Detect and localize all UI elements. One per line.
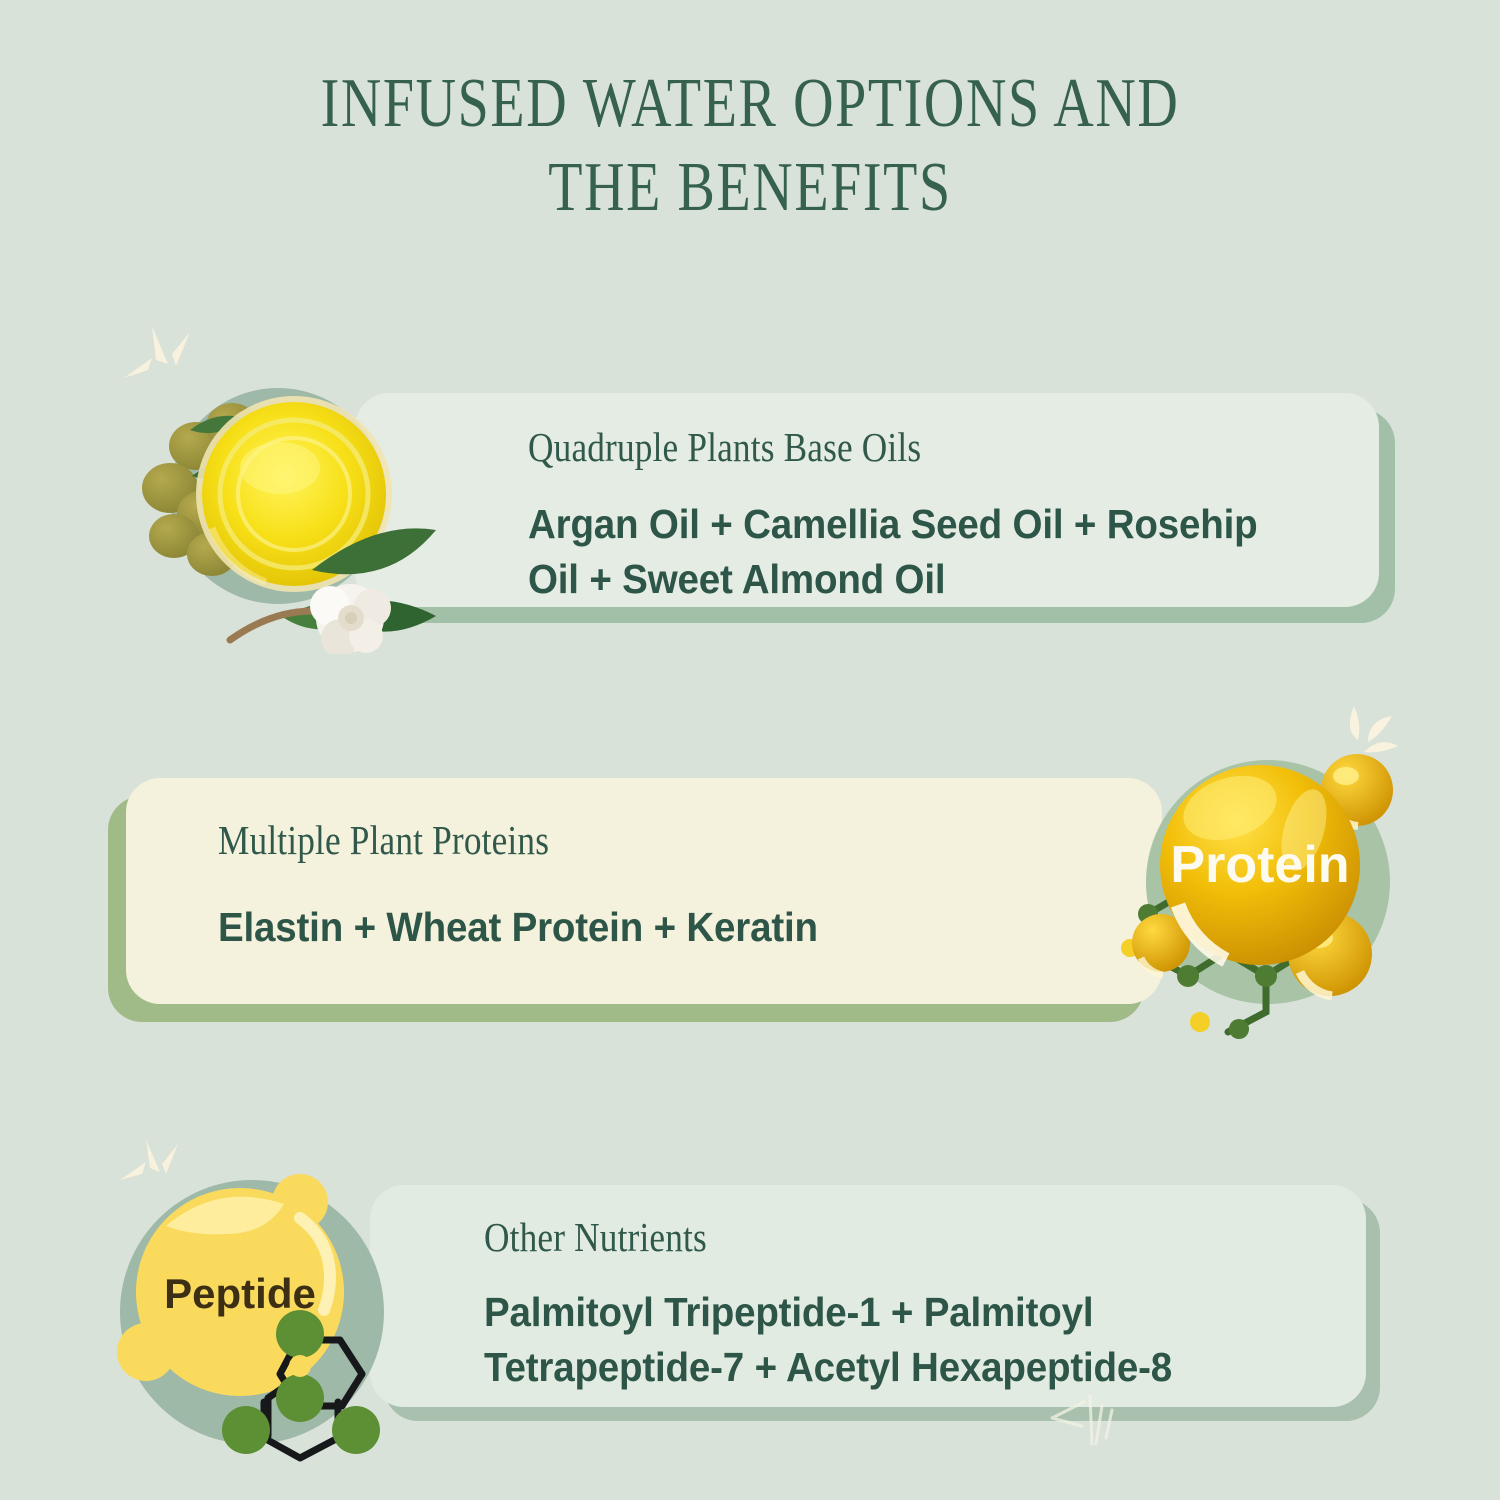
card-body: Elastin + Wheat Protein + Keratin [218, 900, 1026, 955]
sparkle-icon [1048, 1392, 1134, 1448]
card-base-oils: Quadruple Plants Base Oils Argan Oil + C… [355, 393, 1395, 623]
protein-droplet-icon: Protein [1108, 700, 1500, 1058]
sparkle-icon [116, 1140, 198, 1200]
page-title-line-2: THE BENEFITS [150, 146, 1350, 230]
card-kicker: Multiple Plant Proteins [218, 816, 958, 864]
card-kicker: Quadruple Plants Base Oils [528, 423, 1250, 471]
infographic-root: INFUSED WATER OPTIONS AND THE BENEFITS Q… [0, 0, 1500, 1500]
card-body: Argan Oil + Camellia Seed Oil + Rosehip … [528, 497, 1318, 607]
sparkle-icon [118, 322, 208, 388]
page-title-line-1: INFUSED WATER OPTIONS AND [150, 62, 1350, 146]
sparkle-icon [1336, 698, 1428, 772]
card-plant-proteins: Multiple Plant Proteins Elastin + Wheat … [108, 778, 1168, 1040]
card-content: Quadruple Plants Base Oils Argan Oil + C… [528, 423, 1368, 607]
card-other-nutrients: Other Nutrients Palmitoyl Tripeptide-1 +… [370, 1185, 1380, 1421]
protein-label: Protein [1170, 836, 1349, 894]
card-body: Palmitoyl Tripeptide-1 + Palmitoyl Tetra… [484, 1285, 1264, 1395]
card-content: Multiple Plant Proteins Elastin + Wheat … [218, 816, 1078, 955]
card-content: Other Nutrients Palmitoyl Tripeptide-1 +… [484, 1213, 1314, 1395]
card-kicker: Other Nutrients [484, 1213, 1198, 1261]
page-title: INFUSED WATER OPTIONS AND THE BENEFITS [150, 62, 1350, 230]
peptide-label: Peptide [164, 1270, 316, 1317]
